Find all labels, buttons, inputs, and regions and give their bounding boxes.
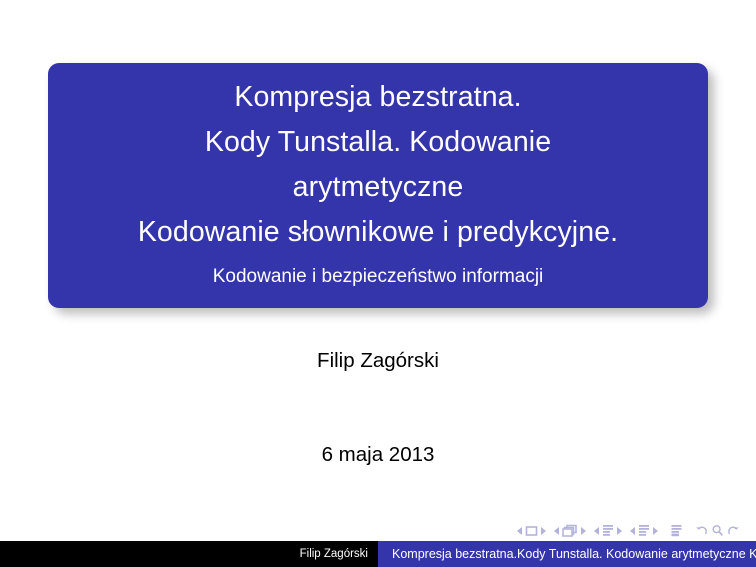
title-box: Kompresja bezstratna. Kody Tunstalla. Ko…	[48, 63, 708, 308]
history-navigation-group[interactable]	[695, 524, 740, 537]
presentation-date: 6 maja 2013	[0, 443, 756, 467]
section-navigation-group[interactable]	[630, 524, 658, 537]
slide-icon[interactable]	[525, 525, 538, 537]
title-line-4: Kodowanie słownikowe i predykcyjne.	[138, 210, 618, 255]
author-name: Filip Zagórski	[0, 349, 756, 373]
footer-title-text: Kompresja bezstratna.Kody Tunstalla. Kod…	[392, 547, 756, 561]
frame-navigation-group[interactable]	[554, 524, 586, 537]
section-icon[interactable]	[638, 524, 650, 537]
footer-author-text: Filip Zagórski	[300, 548, 368, 560]
next-subsection-arrow[interactable]	[617, 527, 622, 535]
presentation-slide: Kompresja bezstratna. Kody Tunstalla. Ko…	[0, 0, 756, 567]
prev-subsection-arrow[interactable]	[594, 527, 599, 535]
title-line-3: arytmetyczne	[293, 165, 464, 210]
next-frame-arrow[interactable]	[581, 527, 586, 535]
presentation-icon[interactable]	[670, 524, 683, 537]
slide-navigation-group[interactable]	[517, 525, 546, 537]
frame-icon[interactable]	[562, 524, 578, 537]
subtitle: Kodowanie i bezpieczeństwo informacji	[213, 262, 544, 292]
back-icon[interactable]	[695, 524, 708, 537]
footer-author-section: Filip Zagórski	[0, 541, 378, 567]
prev-section-arrow[interactable]	[630, 527, 635, 535]
forward-icon[interactable]	[727, 524, 740, 537]
search-icon[interactable]	[711, 524, 724, 537]
beamer-navigation-bar[interactable]	[517, 522, 748, 539]
subsection-icon[interactable]	[602, 524, 614, 537]
next-section-arrow[interactable]	[653, 527, 658, 535]
title-line-2: Kody Tunstalla. Kodowanie	[205, 120, 551, 165]
title-line-1: Kompresja bezstratna.	[234, 75, 521, 120]
prev-frame-arrow[interactable]	[554, 527, 559, 535]
subsection-navigation-group[interactable]	[594, 524, 622, 537]
footer-title-section: Kompresja bezstratna.Kody Tunstalla. Kod…	[378, 541, 756, 567]
prev-slide-arrow[interactable]	[517, 527, 522, 535]
next-slide-arrow[interactable]	[541, 527, 546, 535]
footer-bar: Filip Zagórski Kompresja bezstratna.Kody…	[0, 541, 756, 567]
presentation-navigation-group[interactable]	[670, 524, 683, 537]
